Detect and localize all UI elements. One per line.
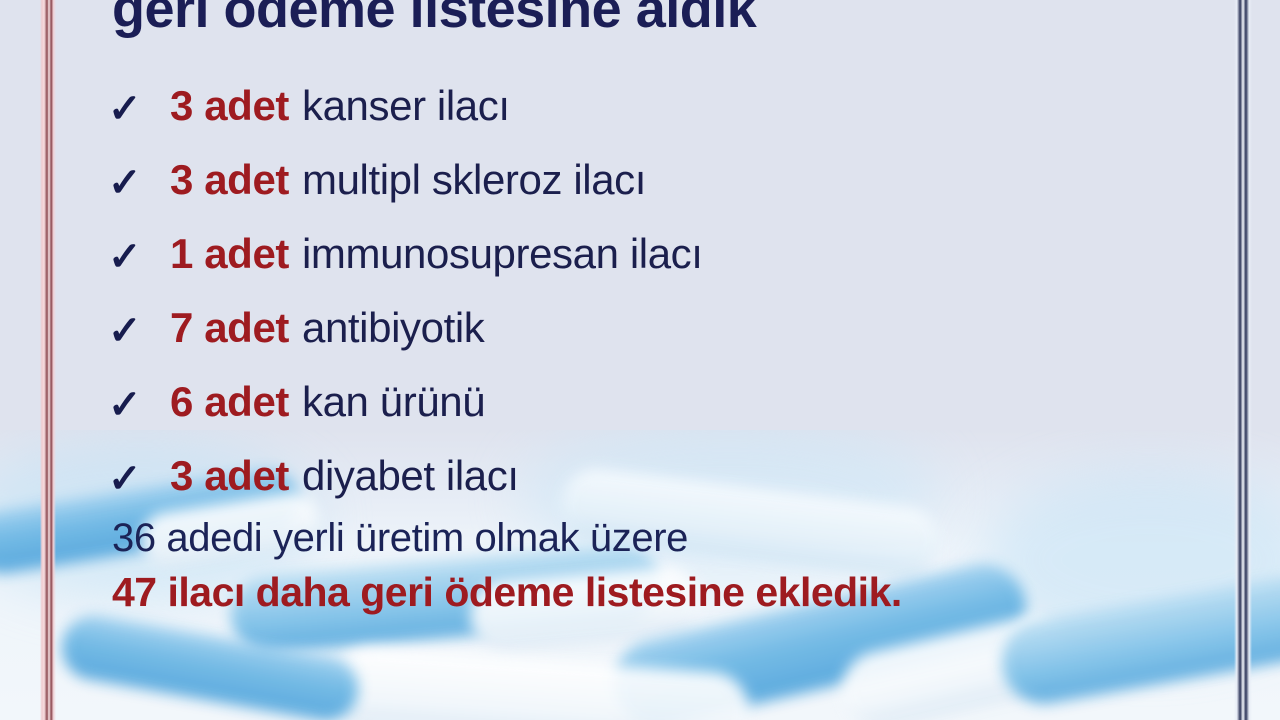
list-item: ✓ 7 adet antibiyotik	[108, 304, 1208, 378]
medicine-list: ✓ 3 adet kanser ilacı ✓ 3 adet multipl s…	[108, 82, 1208, 526]
list-item-label: diyabet ilacı	[302, 452, 519, 500]
page-title: geri ödeme listesine aldık	[112, 0, 756, 40]
check-icon: ✓	[108, 459, 170, 499]
footer-line-1: 36 adedi yerli üretim olmak üzere	[112, 516, 1232, 561]
list-item-label: antibiyotik	[302, 304, 484, 352]
check-icon: ✓	[108, 89, 170, 129]
infographic-poster: geri ödeme listesine aldık ✓ 3 adet kans…	[0, 0, 1280, 720]
check-icon: ✓	[108, 385, 170, 425]
list-item: ✓ 3 adet kanser ilacı	[108, 82, 1208, 156]
list-item-label: multipl skleroz ilacı	[302, 156, 646, 204]
list-item-label: immunosupresan ilacı	[302, 230, 703, 278]
check-icon: ✓	[108, 237, 170, 277]
footer-summary: 36 adedi yerli üretim olmak üzere 47 ila…	[112, 516, 1232, 616]
list-item: ✓ 3 adet diyabet ilacı	[108, 452, 1208, 526]
list-item: ✓ 6 adet kan ürünü	[108, 378, 1208, 452]
check-icon: ✓	[108, 311, 170, 351]
list-item-quantity: 3 adet	[170, 82, 289, 130]
list-item-quantity: 3 adet	[170, 156, 289, 204]
footer-line-2: 47 ilacı daha geri ödeme listesine ekled…	[112, 569, 1232, 616]
list-item-quantity: 7 adet	[170, 304, 289, 352]
list-item-quantity: 3 adet	[170, 452, 289, 500]
list-item: ✓ 3 adet multipl skleroz ilacı	[108, 156, 1208, 230]
poster-content: geri ödeme listesine aldık ✓ 3 adet kans…	[0, 0, 1280, 720]
list-item: ✓ 1 adet immunosupresan ilacı	[108, 230, 1208, 304]
list-item-label: kan ürünü	[302, 378, 485, 426]
list-item-label: kanser ilacı	[302, 82, 510, 130]
list-item-quantity: 6 adet	[170, 378, 289, 426]
list-item-quantity: 1 adet	[170, 230, 289, 278]
check-icon: ✓	[108, 163, 170, 203]
